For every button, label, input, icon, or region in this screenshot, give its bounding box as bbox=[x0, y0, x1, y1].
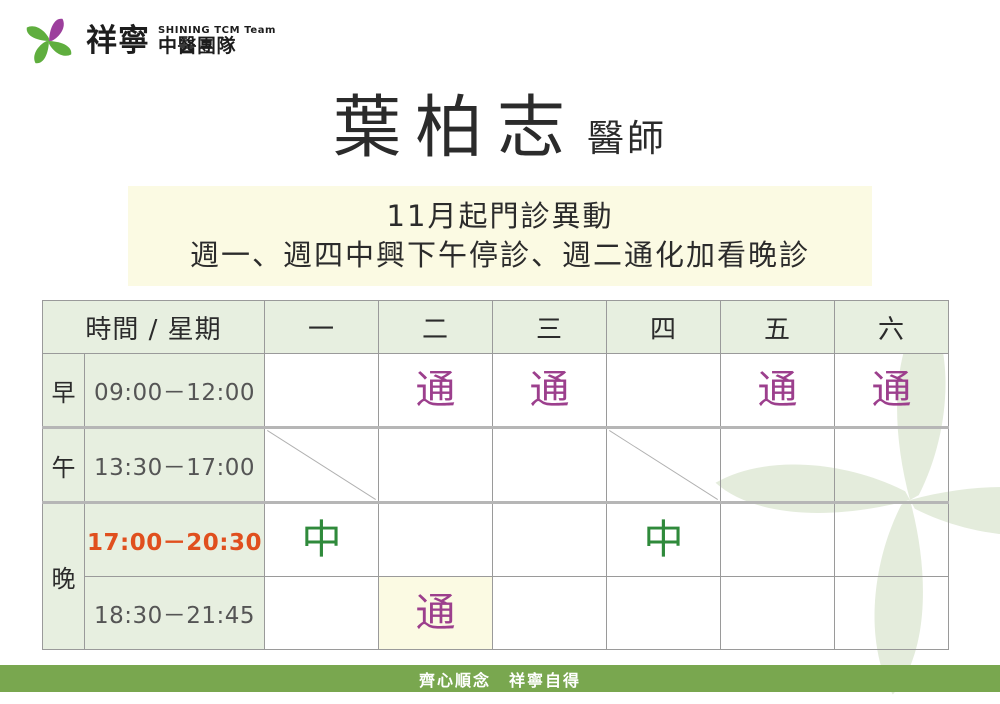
notice-line-2: 週一、週四中興下午停診、週二通化加看晚診 bbox=[190, 236, 810, 275]
footer-slogan: 齊心順念 祥寧自得 bbox=[419, 667, 581, 691]
slot-sat-1 bbox=[835, 428, 949, 503]
doctor-role: 醫師 bbox=[587, 117, 667, 160]
brand-name-cn: 祥寧 bbox=[86, 26, 150, 57]
footer-bar: 齊心順念 祥寧自得 bbox=[0, 665, 1000, 692]
header-day-mon: 一 bbox=[265, 301, 379, 354]
table-row: 18:30－21:45通 bbox=[43, 577, 949, 650]
slot-sat-2 bbox=[835, 503, 949, 577]
slot-thu-1 bbox=[607, 428, 721, 503]
table-row: 早09:00－12:00通通通通 bbox=[43, 354, 949, 428]
schedule-table: 時間 / 星期 一 二 三 四 五 六 早09:00－12:00通通通通午13:… bbox=[42, 300, 949, 650]
slot-mon-2: 中 bbox=[265, 503, 379, 577]
slot-mon-3 bbox=[265, 577, 379, 650]
slot-thu-2: 中 bbox=[607, 503, 721, 577]
slot-sat-3 bbox=[835, 577, 949, 650]
slot-wed-1 bbox=[493, 428, 607, 503]
period-label-cell: 早 bbox=[43, 354, 85, 428]
slot-thu-0 bbox=[607, 354, 721, 428]
header-day-fri: 五 bbox=[721, 301, 835, 354]
clinic-mark: 中 bbox=[644, 517, 684, 563]
header-day-wed: 三 bbox=[493, 301, 607, 354]
notice-line-1: 11月起門診異動 bbox=[387, 197, 614, 236]
closed-slash-icon bbox=[607, 429, 720, 501]
brand-name-sub: 中醫團隊 bbox=[158, 36, 276, 57]
slot-wed-3 bbox=[493, 577, 607, 650]
slot-fri-3 bbox=[721, 577, 835, 650]
page-title: 葉柏志醫師 bbox=[0, 72, 1000, 171]
clinic-mark: 通 bbox=[872, 367, 912, 413]
slot-tue-2 bbox=[379, 503, 493, 577]
slot-tue-1 bbox=[379, 428, 493, 503]
schedule-header-row: 時間 / 星期 一 二 三 四 五 六 bbox=[43, 301, 949, 354]
clinic-mark: 通 bbox=[530, 367, 570, 413]
slot-tue-0: 通 bbox=[379, 354, 493, 428]
closed-slash-icon bbox=[265, 429, 378, 501]
table-row: 晚17:00－20:30中中 bbox=[43, 503, 949, 577]
header-day-thu: 四 bbox=[607, 301, 721, 354]
slot-sat-0: 通 bbox=[835, 354, 949, 428]
time-range-cell: 18:30－21:45 bbox=[85, 577, 265, 650]
schedule-body: 早09:00－12:00通通通通午13:30－17:00晚17:00－20:30… bbox=[43, 354, 949, 650]
time-range-cell: 13:30－17:00 bbox=[85, 428, 265, 503]
header-day-sat: 六 bbox=[835, 301, 949, 354]
clinic-mark: 中 bbox=[302, 517, 342, 563]
doctor-name: 葉柏志 bbox=[333, 89, 579, 168]
slot-tue-3: 通 bbox=[379, 577, 493, 650]
slot-fri-2 bbox=[721, 503, 835, 577]
slot-fri-0: 通 bbox=[721, 354, 835, 428]
slot-wed-0: 通 bbox=[493, 354, 607, 428]
clinic-mark: 通 bbox=[416, 590, 456, 636]
time-range-cell: 09:00－12:00 bbox=[85, 354, 265, 428]
table-row: 午13:30－17:00 bbox=[43, 428, 949, 503]
slot-wed-2 bbox=[493, 503, 607, 577]
header-time-weekday: 時間 / 星期 bbox=[43, 301, 265, 354]
brand-logo: 祥寧 SHINING TCM Team 中醫團隊 bbox=[22, 14, 276, 68]
clinic-mark: 通 bbox=[416, 367, 456, 413]
slot-mon-1 bbox=[265, 428, 379, 503]
period-label-cell: 晚 bbox=[43, 503, 85, 650]
clinic-mark: 通 bbox=[758, 367, 798, 413]
flower-logo-icon bbox=[22, 14, 76, 68]
slot-mon-0 bbox=[265, 354, 379, 428]
time-range-cell: 17:00－20:30 bbox=[85, 503, 265, 577]
header-day-tue: 二 bbox=[379, 301, 493, 354]
period-label-cell: 午 bbox=[43, 428, 85, 503]
slot-thu-3 bbox=[607, 577, 721, 650]
slot-fri-1 bbox=[721, 428, 835, 503]
notice-banner: 11月起門診異動 週一、週四中興下午停診、週二通化加看晚診 bbox=[128, 186, 872, 286]
